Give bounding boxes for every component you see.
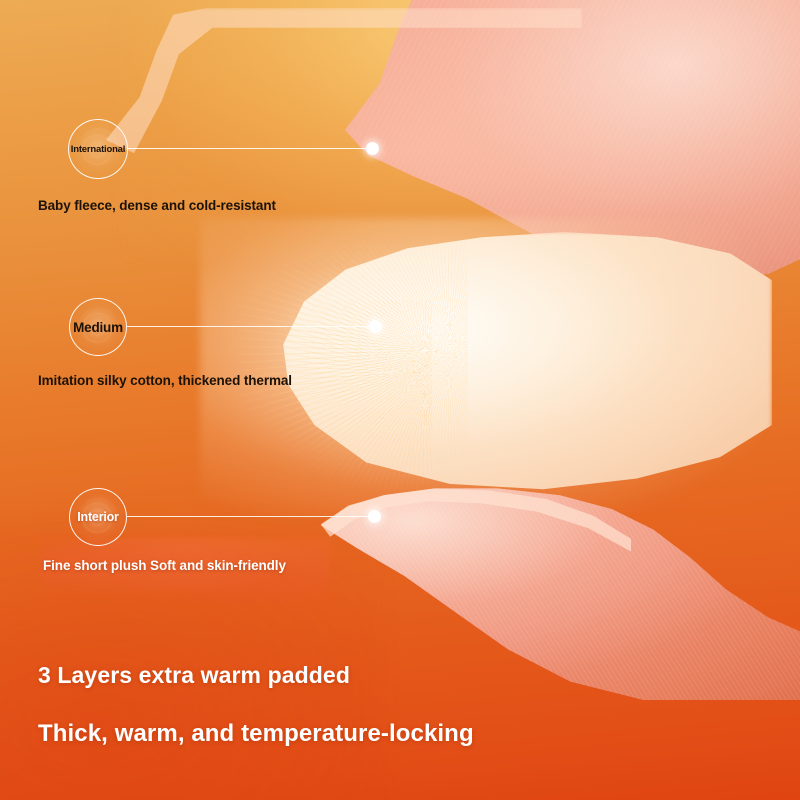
leader-line-outer [128, 148, 374, 149]
product-infographic: International Baby fleece, dense and col… [0, 0, 800, 800]
caption-inner: Fine short plush Soft and skin-friendly [43, 558, 286, 573]
leader-line-inner [127, 516, 375, 517]
headline-main: 3 Layers extra warm padded [38, 662, 350, 689]
badge-middle[interactable]: Medium [69, 298, 127, 356]
leader-dot-outer [366, 142, 379, 155]
badge-label-inner: Interior [77, 510, 118, 524]
caption-middle: Imitation silky cotton, thickened therma… [38, 373, 292, 388]
caption-outer: Baby fleece, dense and cold-resistant [38, 198, 276, 213]
badge-label-outer: International [71, 144, 125, 155]
badge-outer[interactable]: International [68, 119, 128, 179]
leader-line-middle [127, 326, 377, 327]
badge-label-middle: Medium [73, 320, 123, 335]
headline-sub: Thick, warm, and temperature-locking [38, 720, 474, 748]
cotton-fiber-wisps-secondary [262, 300, 432, 490]
leader-dot-middle [369, 320, 382, 333]
badge-inner[interactable]: Interior [69, 488, 127, 546]
leader-dot-inner [368, 510, 381, 523]
